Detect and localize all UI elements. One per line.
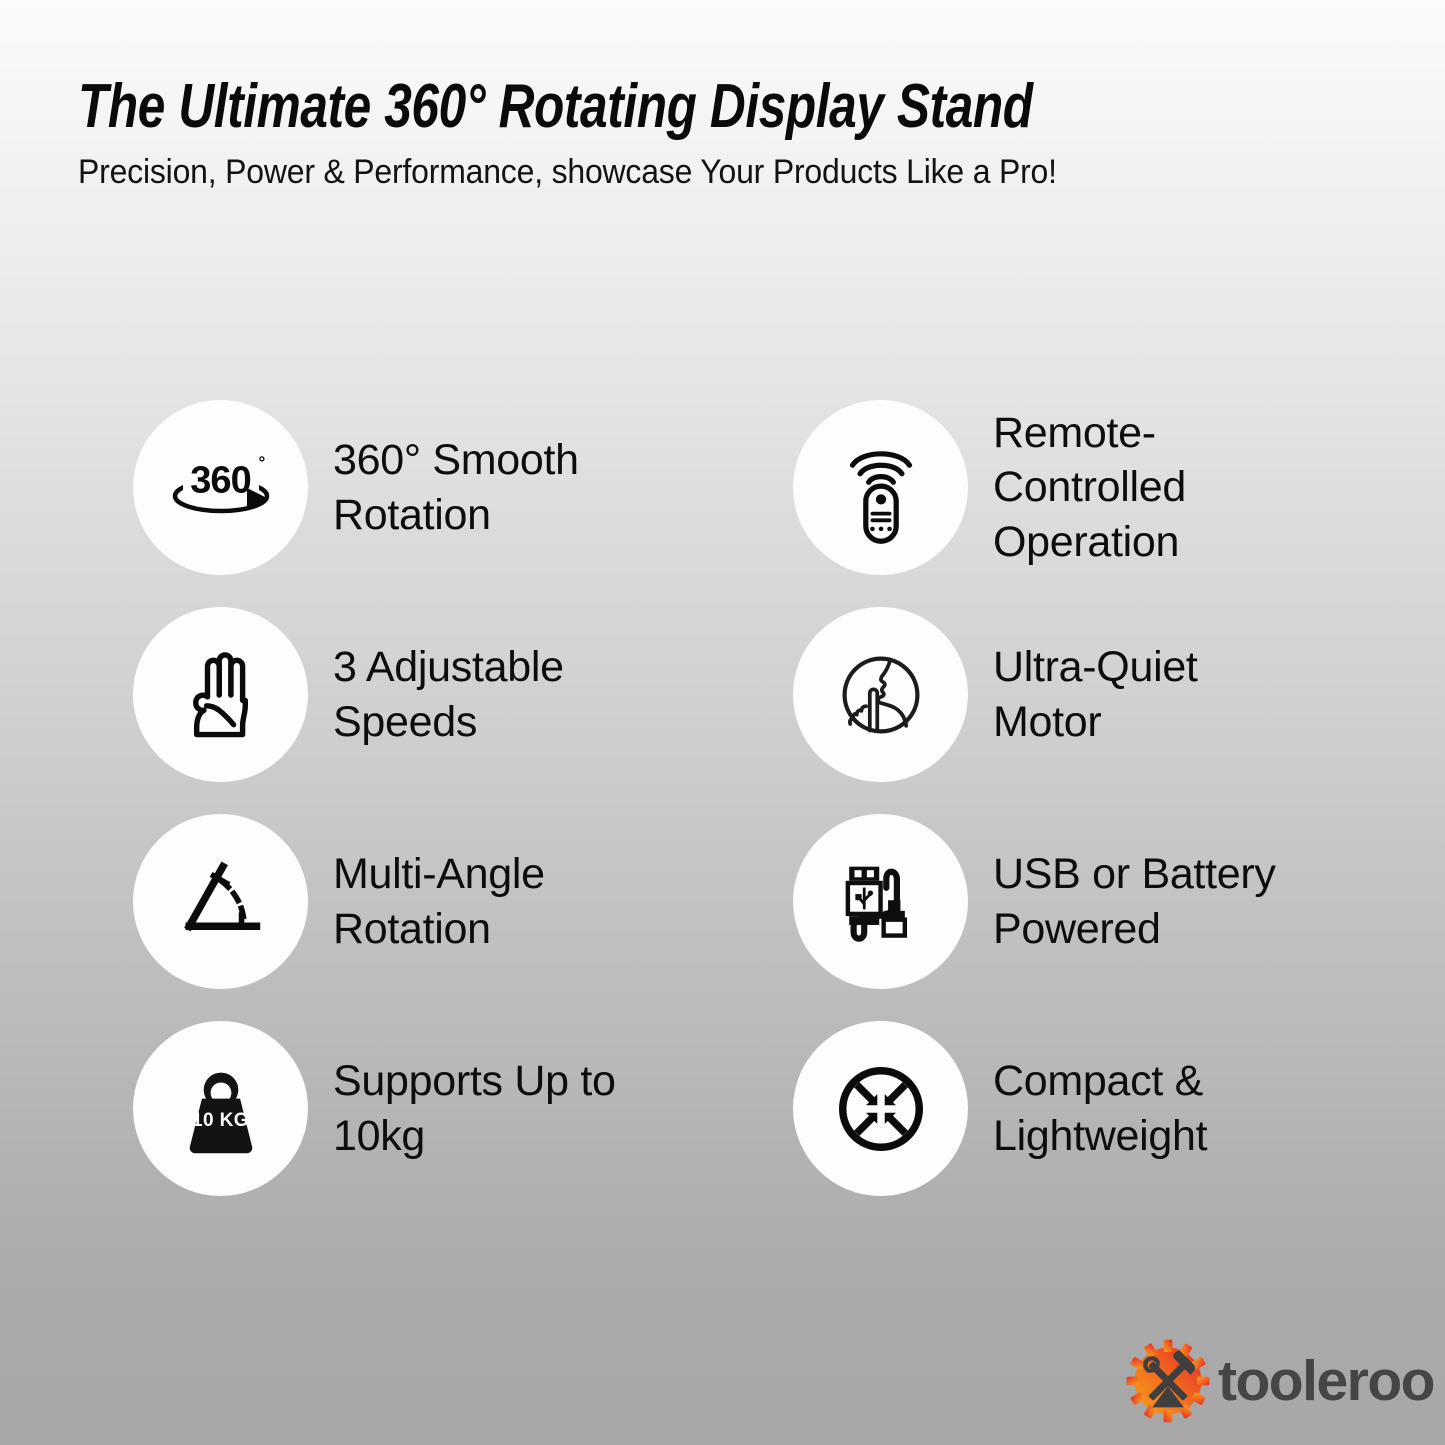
remote-control-icon — [793, 400, 968, 575]
360-rotation-icon: 360 ° — [133, 400, 308, 575]
feature-label: 360° Smooth Rotation — [333, 433, 673, 541]
logo-wordmark: tooleroo — [1218, 1353, 1434, 1410]
feature-label: 3 Adjustable Speeds — [333, 640, 673, 748]
feature-compact-lightweight: Compact & Lightweight — [793, 1021, 1283, 1196]
feature-supports-10kg: 10 KG Supports Up to 10kg — [133, 1021, 673, 1196]
feature-label: Multi-Angle Rotation — [333, 847, 673, 955]
shush-quiet-face-icon — [793, 607, 968, 782]
360-icon-number: 360 — [190, 459, 250, 502]
usb-cable-icon — [793, 814, 968, 989]
feature-usb-or-battery-powered: USB or Battery Powered — [793, 814, 1283, 989]
feature-label: Compact & Lightweight — [993, 1054, 1283, 1162]
angle-measure-icon — [133, 814, 308, 989]
three-fingers-hand-icon — [133, 607, 308, 782]
feature-label: Supports Up to 10kg — [333, 1054, 673, 1162]
header-block: The Ultimate 360° Rotating Display Stand… — [78, 74, 1378, 192]
page-title: The Ultimate 360° Rotating Display Stand — [78, 74, 1118, 139]
feature-label: Ultra-Quiet Motor — [993, 640, 1283, 748]
feature-360-smooth-rotation: 360 ° 360° Smooth Rotation — [133, 400, 673, 575]
feature-multi-angle-rotation: Multi-Angle Rotation — [133, 814, 673, 989]
page-subtitle: Precision, Power & Performance, showcase… — [78, 153, 1300, 192]
feature-ultra-quiet-motor: Ultra-Quiet Motor — [793, 607, 1283, 782]
compress-arrows-circle-icon — [793, 1021, 968, 1196]
feature-3-adjustable-speeds: 3 Adjustable Speeds — [133, 607, 673, 782]
360-icon-degree: ° — [259, 453, 266, 473]
brand-logo: tooleroo — [1124, 1337, 1434, 1425]
gear-hammer-wrench-logo-icon — [1124, 1337, 1212, 1425]
weight-10kg-icon: 10 KG — [133, 1021, 308, 1196]
feature-remote-controlled-operation: Remote-Controlled Operation — [793, 400, 1283, 575]
feature-label: USB or Battery Powered — [993, 847, 1283, 955]
feature-label: Remote-Controlled Operation — [993, 406, 1283, 569]
